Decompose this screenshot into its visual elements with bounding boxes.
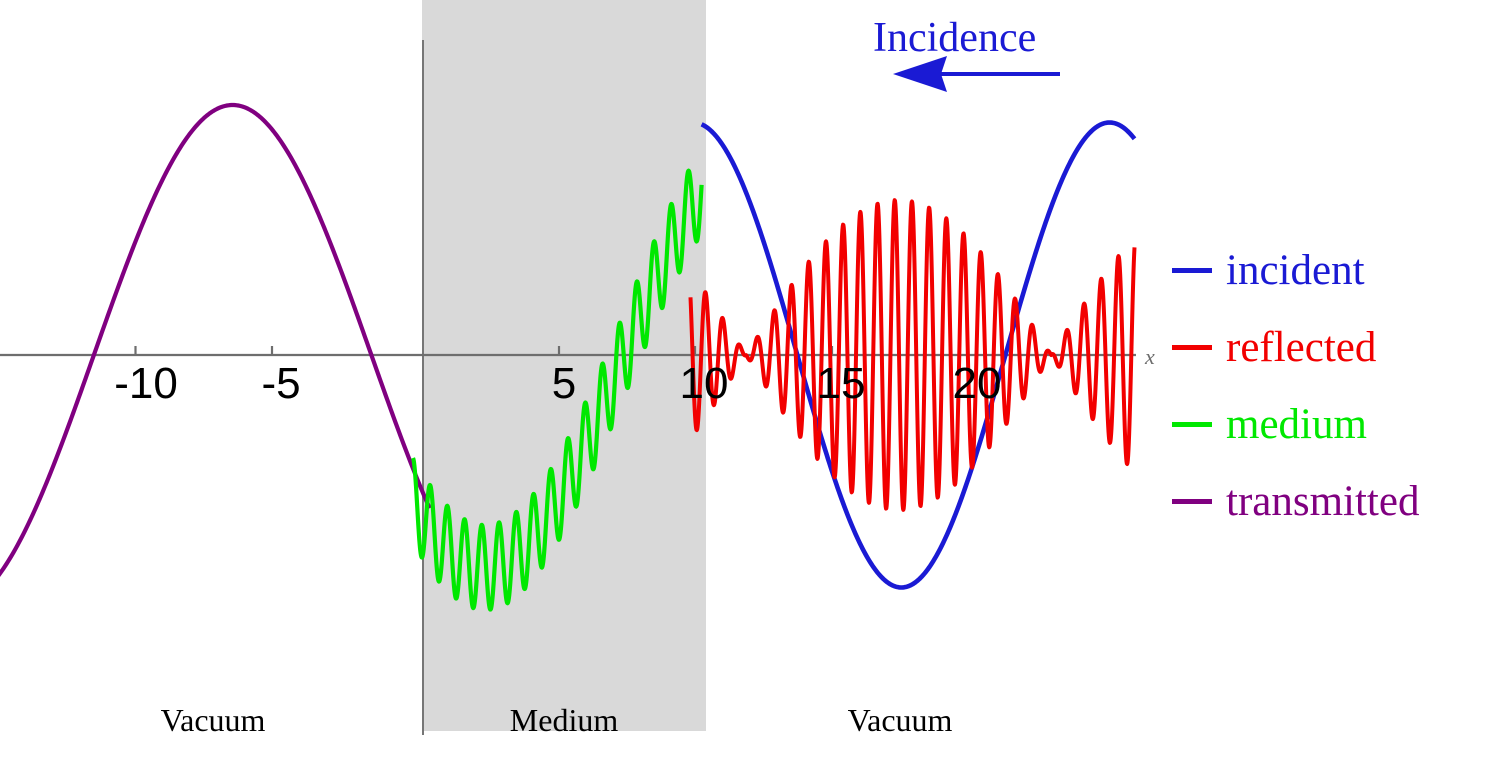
legend-item-transmitted[interactable]: transmitted [1172, 463, 1419, 540]
wave-reflection-figure: Incidence -10 -5 5 10 15 20 x Vacuum Med… [0, 0, 1490, 758]
legend-swatch-medium [1172, 422, 1212, 427]
legend-item-reflected[interactable]: reflected [1172, 309, 1419, 386]
tick-label-minus10: -10 [114, 362, 178, 406]
legend-swatch-incident [1172, 268, 1212, 273]
incidence-annotation-label: Incidence [873, 14, 1036, 62]
legend-swatch-reflected [1172, 345, 1212, 350]
transmitted-wave-curve [0, 105, 430, 595]
region-label-vacuum-right: Vacuum [848, 702, 953, 739]
tick-label-minus5: -5 [261, 362, 300, 406]
legend-label-transmitted: transmitted [1226, 480, 1419, 523]
region-label-medium: Medium [510, 702, 618, 739]
tick-label-5: 5 [552, 362, 576, 406]
x-axis-variable-label: x [1145, 344, 1155, 370]
legend-swatch-transmitted [1172, 499, 1212, 504]
axis-group [0, 346, 1136, 355]
legend-label-reflected: reflected [1226, 326, 1376, 369]
region-label-vacuum-left: Vacuum [161, 702, 266, 739]
legend: incident reflected medium transmitted [1172, 232, 1419, 540]
tick-label-15: 15 [817, 362, 866, 406]
tick-label-20: 20 [953, 362, 1002, 406]
tick-label-10: 10 [680, 362, 729, 406]
legend-label-medium: medium [1226, 403, 1367, 446]
legend-item-medium[interactable]: medium [1172, 386, 1419, 463]
legend-label-incident: incident [1226, 249, 1365, 292]
legend-item-incident[interactable]: incident [1172, 232, 1419, 309]
